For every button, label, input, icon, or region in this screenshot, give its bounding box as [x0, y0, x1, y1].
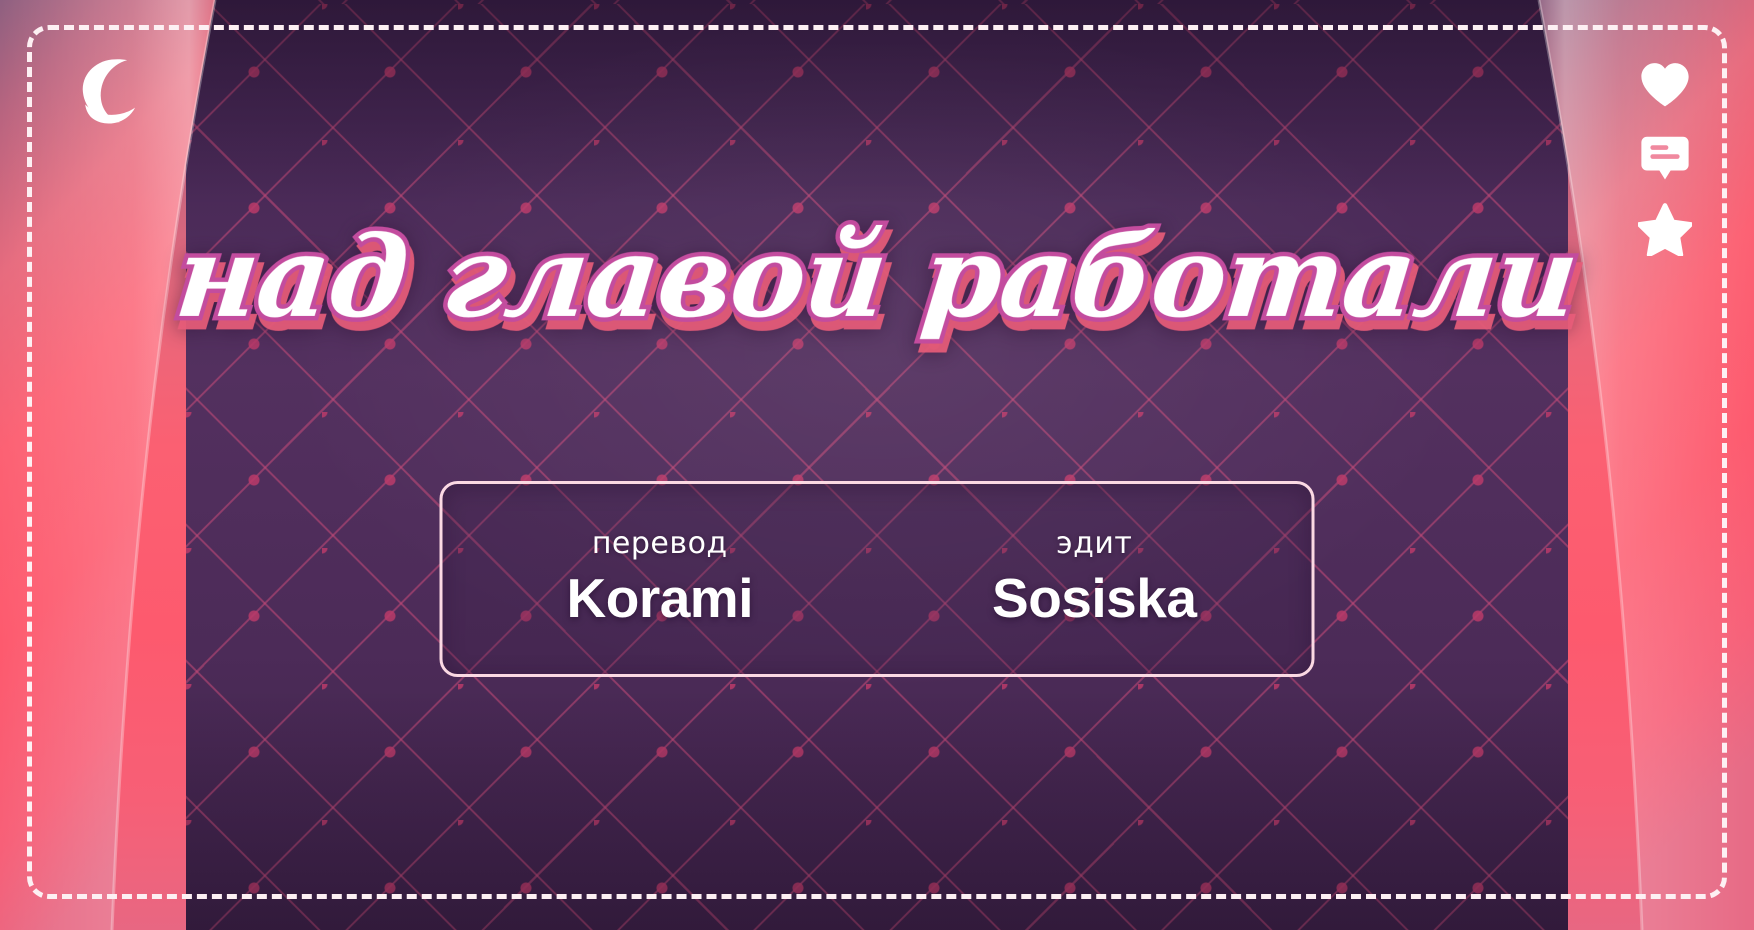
credit-role-label: перевод [535, 529, 785, 559]
action-icon-rail [1632, 58, 1698, 256]
heart-icon[interactable] [1638, 58, 1692, 112]
credits-card: над главой работали перевод Korami эдит … [0, 0, 1754, 930]
comment-icon[interactable] [1638, 130, 1692, 184]
credit-entry-translation: перевод Korami [511, 529, 809, 628]
star-icon[interactable] [1638, 202, 1692, 256]
credit-role-label: эдит [969, 529, 1219, 559]
credits-box: перевод Korami эдит Sosiska [440, 481, 1315, 677]
credit-name-value: Korami [535, 569, 785, 628]
argyle-pattern-panel [186, 0, 1568, 930]
crescent-moon-icon[interactable] [68, 53, 146, 131]
credit-name-value: Sosiska [969, 569, 1219, 628]
credit-entry-edit: эдит Sosiska [945, 529, 1243, 628]
